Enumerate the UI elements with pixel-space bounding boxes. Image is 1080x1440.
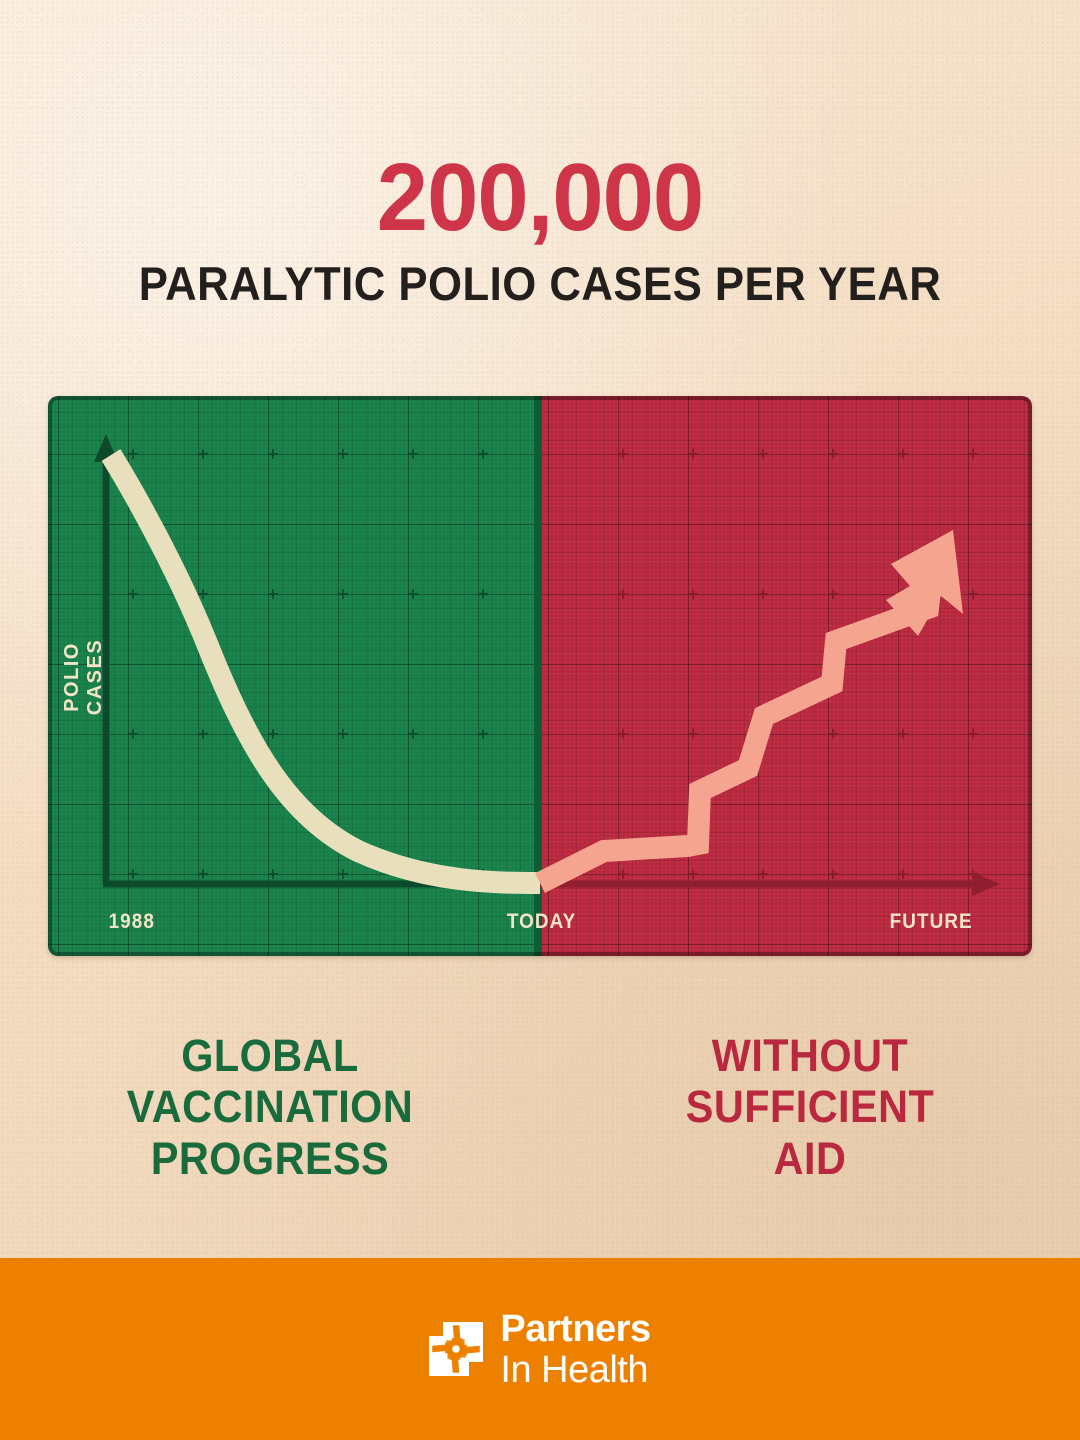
four-hands-icon <box>429 1322 483 1376</box>
caption-global-vaccination-progress: GLOBAL VACCINATION PROGRESS <box>22 1030 519 1220</box>
x-axis-label-start: 1988 <box>109 910 155 934</box>
rising-trend-line <box>540 556 934 883</box>
page-subtitle: PARALYTIC POLIO CASES PER YEAR <box>38 260 1042 307</box>
caption-without-sufficient-aid: WITHOUT SUFFICIENT AID <box>562 1030 1059 1220</box>
caption-right-line-2: SUFFICIENT <box>562 1081 1059 1132</box>
y-axis-label: POLIO CASES <box>61 607 107 747</box>
caption-right-line-3: AID <box>562 1133 1059 1184</box>
headline-block: 200,000 PARALYTIC POLIO CASES PER YEAR <box>0 150 1080 307</box>
x-axis-red <box>540 872 1000 896</box>
caption-left-line-2: VACCINATION <box>22 1081 519 1132</box>
chart-panel: POLIO CASES 1988 TODAY FUTURE <box>48 396 1032 956</box>
x-axis-label-today: TODAY <box>507 910 576 934</box>
page-title-number: 200,000 <box>22 150 1059 246</box>
logo-line-2: In Health <box>500 1351 650 1389</box>
logo-wordmark: Partners In Health <box>500 1310 650 1389</box>
caption-right-line-1: WITHOUT <box>562 1030 1059 1081</box>
logo-line-1: Partners <box>500 1310 650 1348</box>
x-axis-label-future: FUTURE <box>889 910 972 934</box>
caption-left-line-3: PROGRESS <box>22 1133 519 1184</box>
partners-in-health-logo: Partners In Health <box>429 1310 650 1389</box>
footer-bar: Partners In Health <box>0 1258 1080 1440</box>
captions-row: GLOBAL VACCINATION PROGRESS WITHOUT SUFF… <box>0 1030 1080 1220</box>
chart-graphics <box>48 396 1032 956</box>
caption-left-line-1: GLOBAL <box>22 1030 519 1081</box>
grid-cross-marks-red <box>618 449 978 879</box>
declining-trend-line <box>111 455 540 883</box>
